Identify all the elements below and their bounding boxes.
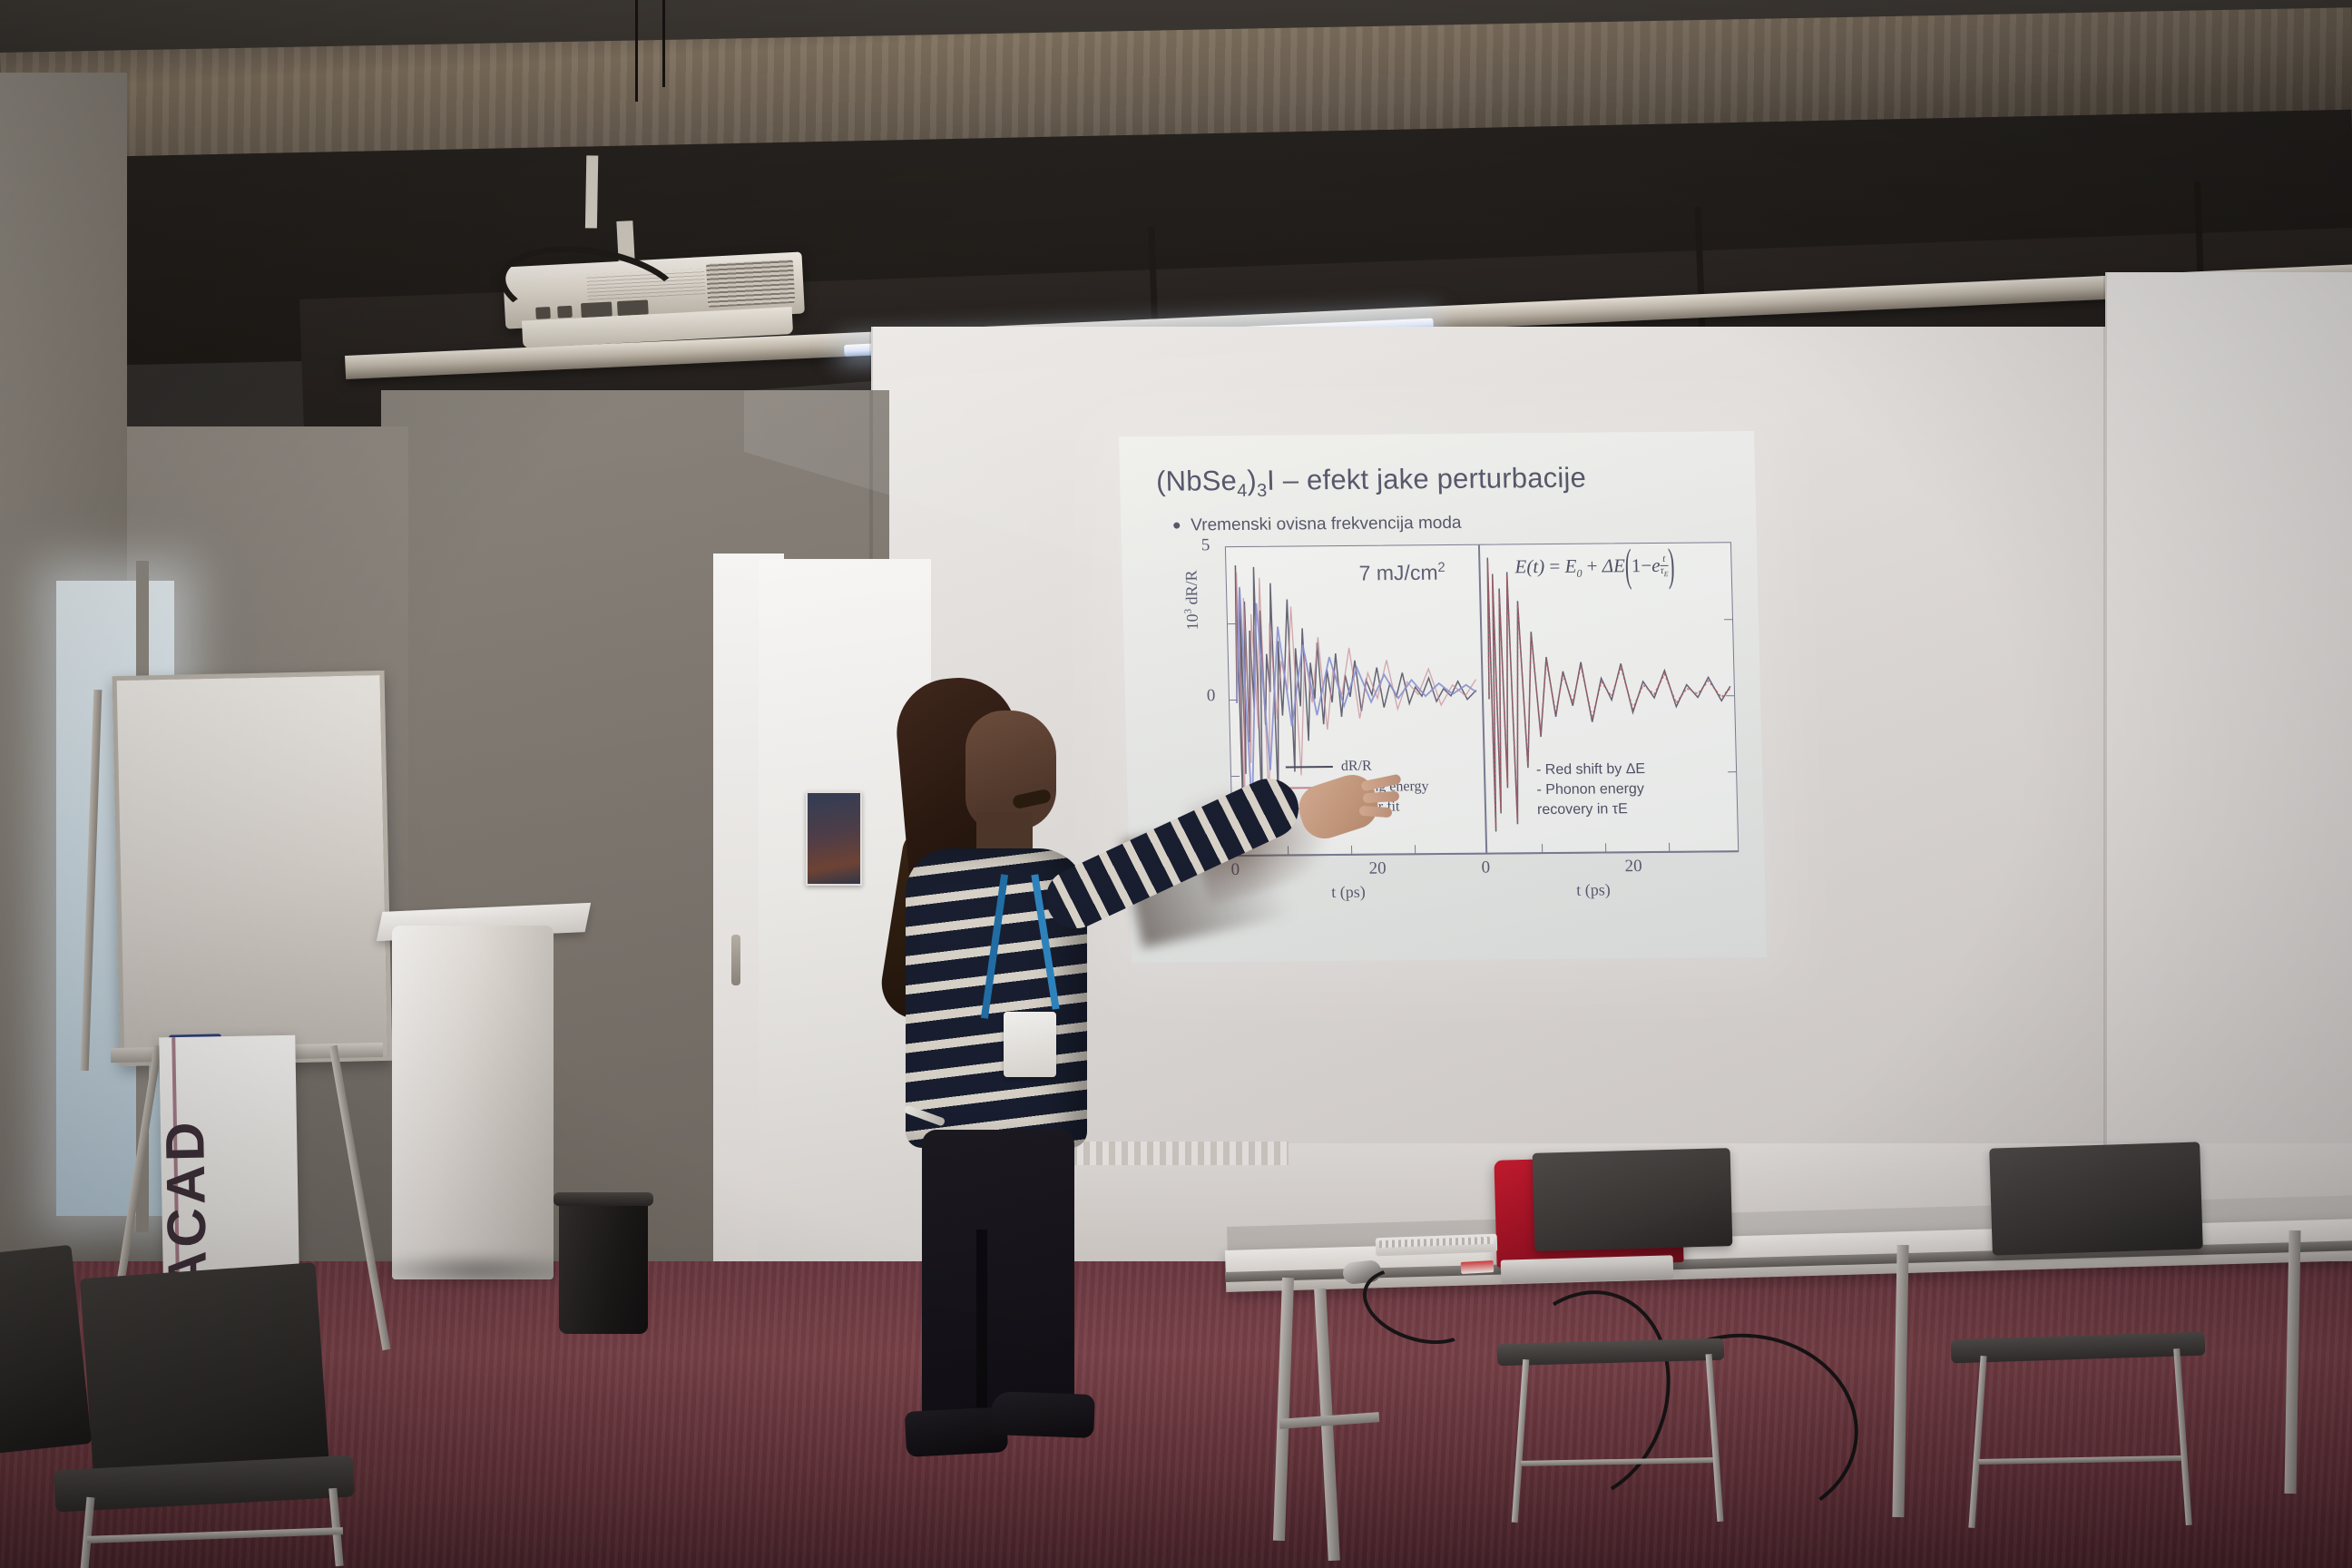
equation-equals: = [1549,555,1560,577]
waste-bin [559,1198,648,1334]
y-axis-label-rest: dR/R [1182,570,1201,609]
door-handle[interactable] [731,935,740,985]
presenter-trousers [922,1130,1074,1429]
ceiling-wire [635,0,638,102]
y-tick-mark [1724,619,1732,620]
chart-notes: - Red shift by ΔE - Phonon energy recove… [1536,759,1647,819]
chart-y-axis-label: 103 dR/R [1182,570,1203,630]
x-tick [1415,845,1416,854]
y-tick-0: 0 [1207,686,1216,706]
x-tick [1288,846,1289,855]
equation-e0: E [1564,555,1576,577]
x-tick [1351,846,1353,855]
presenter [889,676,1189,1461]
x-tick [1542,844,1543,853]
lectern-body [392,926,554,1279]
waste-bin-rim [554,1192,653,1206]
x-axis-label-left: t (ps) [1331,883,1366,902]
y-tick-mark [1728,771,1736,772]
x-tick [1605,843,1607,852]
keyboard-keys [1379,1237,1494,1248]
equation-close-paren: ) [1668,538,1675,593]
equation-lhs: E(t) [1514,555,1544,577]
slide-chart: 103 dR/R 5 0 -5 [1187,542,1738,895]
y-axis-label-base: 10 [1183,613,1201,630]
equation-one-minus: 1− [1632,554,1652,576]
projected-slide: (NbSe4)3I – efekt jake perturbacije Vrem… [1119,431,1767,963]
fluence-exponent: 2 [1437,560,1445,575]
banner-text: ACAD [159,1118,219,1291]
y-tick-5: 5 [1201,535,1210,555]
fluence-value: 7 mJ/cm [1358,561,1438,585]
bullet-dot-icon [1173,523,1180,529]
slide-title-sub-3: 3 [1257,481,1268,501]
x-tick-label-20-left: 20 [1368,859,1387,879]
y-axis-label-exp: 3 [1183,609,1194,614]
equation-e0-sub: 0 [1576,567,1582,580]
equation-open-paren: ( [1624,539,1632,593]
ceiling-mounted-projector [503,251,806,350]
note-recovery: recovery in τE [1537,799,1647,820]
x-tick-label-20-right: 20 [1624,857,1642,877]
note-recovery-text: recovery in τE [1537,801,1628,818]
chair-table-left-back[interactable] [1533,1148,1733,1251]
slide-title-sub-4: 4 [1237,481,1248,501]
projector-mount-arm [585,155,598,228]
slide-title-paren: ) [1247,465,1257,496]
equation-plus: + [1586,555,1597,577]
note-red-shift: - Red shift by ΔE [1536,759,1646,780]
projector-vent-grille [706,260,795,308]
chart-fluence-annotation: 7 mJ/cm2 [1358,560,1445,585]
slide-bullet-item: Vremenski ovisna frekvencija moda [1173,514,1462,536]
equation-delta-e: ΔE [1602,554,1625,576]
chair-table-right-back[interactable] [1989,1142,2203,1255]
macbook-base[interactable] [1501,1255,1674,1283]
slide-title-end: I – efekt jake perturbacije [1267,462,1587,496]
slide-title: (NbSe4)3I – efekt jake perturbacije [1156,460,1738,503]
y-tick-mark [1726,695,1734,696]
y-tick-mark [1228,623,1236,624]
x-axis-label-right: t (ps) [1576,880,1611,899]
slide-bullet-text: Vremenski ovisna frekvencija moda [1191,514,1462,535]
note-phonon-energy: - Phonon energy [1536,779,1646,800]
door-poster [806,791,862,886]
x-tick-label-0-right: 0 [1481,858,1490,878]
presenter-shoe-right [990,1391,1095,1438]
flipchart-board [113,671,393,1066]
conference-room-scene: (NbSe4)3I – efekt jake perturbacije Vrem… [0,0,2352,1568]
ceiling-wire [662,0,665,87]
lectern-shadow [363,1252,590,1289]
presenter-badge [1004,1012,1056,1077]
y-tick-mark [1230,700,1238,701]
x-tick-label-0-left: 0 [1230,860,1240,880]
presenter-leg-gap [976,1230,987,1420]
y-tick-mark [1231,776,1240,777]
slide-title-main: (NbSe [1156,465,1238,497]
usb-adapter [1461,1260,1494,1274]
chart-equation: E(t) = E0 + ΔE(1−etτE) [1514,554,1675,582]
legend-swatch-drr [1286,766,1333,768]
x-tick [1669,843,1671,852]
